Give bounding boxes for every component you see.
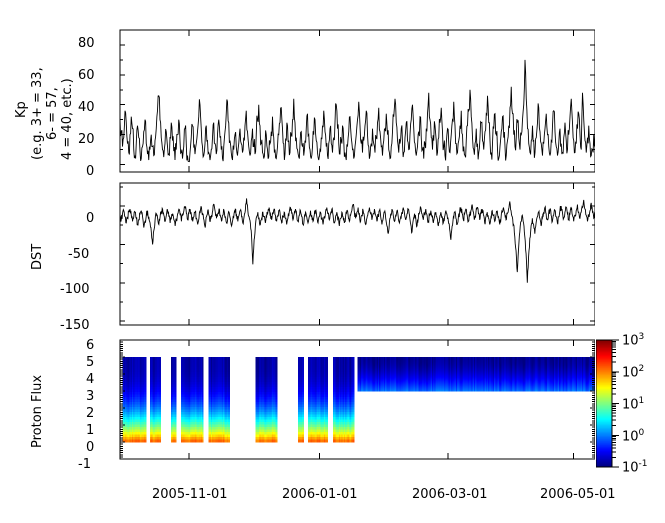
kp-ytick-40: 40 [78, 100, 95, 115]
kp-axis-label-note-3: 4 = 40, etc.) [60, 78, 75, 160]
kp-ytick-20: 20 [78, 132, 95, 147]
proton-ytick-0: 0 [86, 440, 94, 455]
colorbar-exp-0: 0 [639, 428, 645, 438]
proton-axis-label: Proton Flux [30, 375, 45, 448]
proton-plot-area [105, 332, 595, 482]
colorbar-exp-neg1: -1 [639, 459, 648, 469]
colorbar [596, 332, 620, 477]
proton-ytick-5: 5 [86, 355, 94, 370]
colorbar-exp-3: 3 [639, 332, 645, 342]
colorbar-ticklabel-1e3: 103 [622, 332, 644, 348]
kp-axis-label-note-1: (e.g. 3+ = 33, [30, 67, 45, 160]
dst-ytick-neg50: -50 [68, 247, 89, 262]
proton-ytick-neg1: -1 [78, 457, 91, 472]
proton-ytick-3: 3 [86, 389, 94, 404]
dst-ytick-neg150: -150 [60, 318, 90, 333]
colorbar-ticklabel-1e0: 100 [622, 428, 644, 444]
colorbar-exp-2: 2 [639, 364, 645, 374]
dst-ytick-0: 0 [86, 211, 94, 226]
proton-ytick-6: 6 [86, 338, 94, 353]
xtick-label-3: 2006-05-01 [540, 487, 616, 502]
kp-ytick-60: 60 [78, 68, 95, 83]
proton-ytick-2: 2 [86, 406, 94, 421]
xtick-label-1: 2006-01-01 [282, 487, 358, 502]
colorbar-exp-1: 1 [639, 396, 645, 406]
dst-ytick-neg100: -100 [60, 282, 90, 297]
kp-axis-label-main: Kp [14, 101, 29, 118]
xtick-label-2: 2006-03-01 [412, 487, 488, 502]
proton-ytick-4: 4 [86, 372, 94, 387]
colorbar-ticklabel-1e1: 101 [622, 396, 644, 412]
dst-plot-area [105, 176, 595, 334]
kp-axis-label-note-2: 6- = 57, [45, 87, 60, 140]
figure-root: Kp (e.g. 3+ = 33, 6- = 57, 4 = 40, etc.)… [0, 0, 665, 523]
kp-ytick-80: 80 [78, 36, 95, 51]
kp-plot-area [105, 22, 595, 187]
dst-axis-label: DST [30, 244, 45, 270]
colorbar-ticklabel-1eneg1: 10-1 [622, 459, 648, 475]
colorbar-ticklabel-1e2: 102 [622, 364, 644, 380]
proton-ytick-1: 1 [86, 423, 94, 438]
kp-ytick-0: 0 [86, 164, 94, 179]
xtick-label-0: 2005-11-01 [152, 487, 228, 502]
